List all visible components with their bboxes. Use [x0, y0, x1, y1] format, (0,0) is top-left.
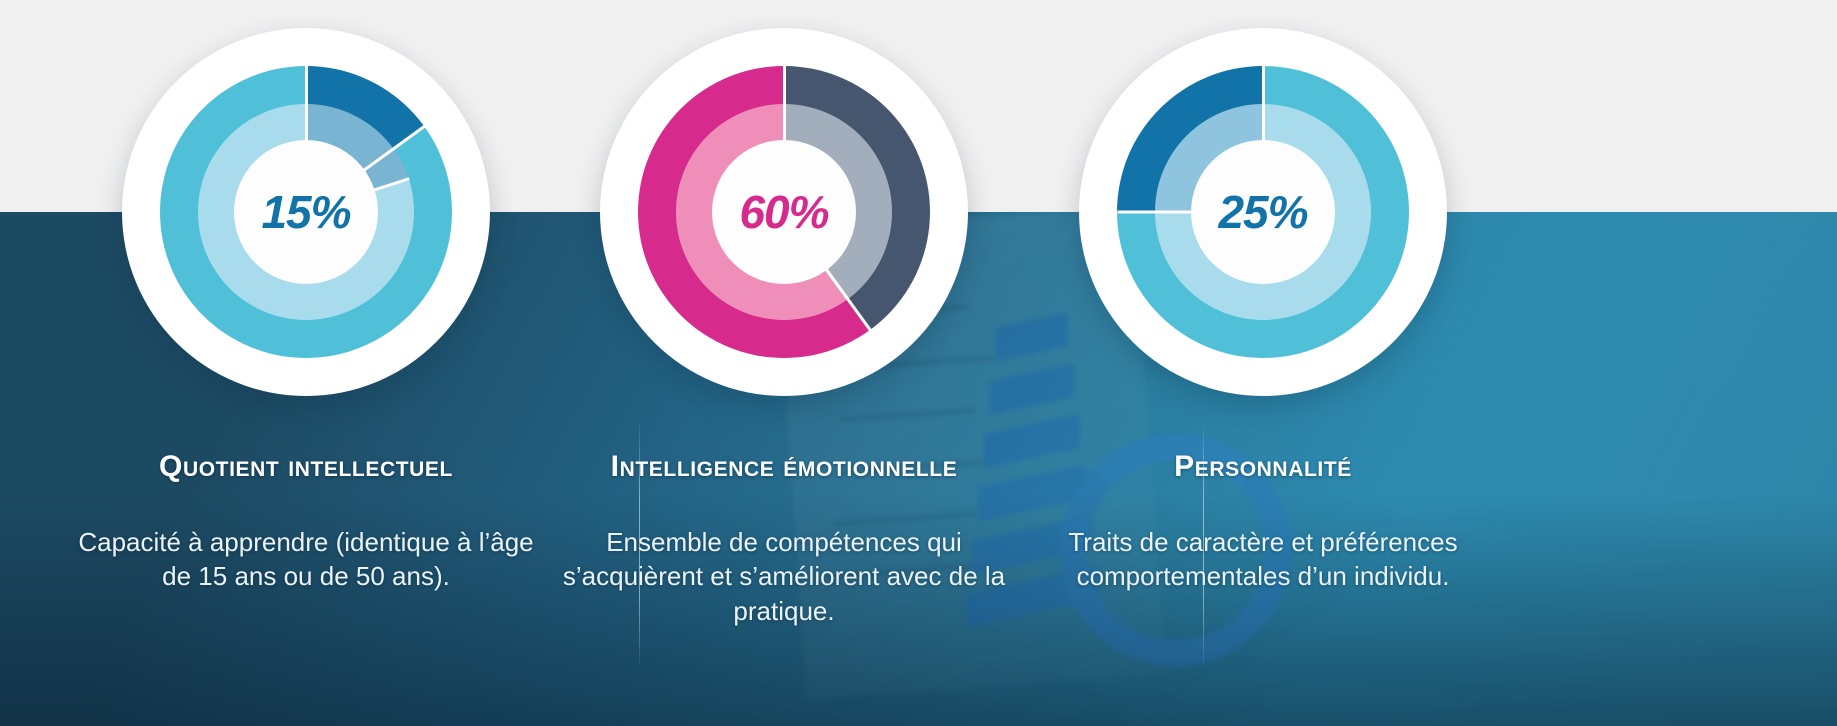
column-quotient-intellectuel: 15% Quotient intellectuel Capacité à app…	[26, 0, 586, 726]
column-description-3: Traits de caractère et préférences compo…	[1025, 525, 1501, 594]
donut-percent-label-1: 15%	[261, 189, 350, 235]
donut-wrap-3: 25%	[1079, 28, 1447, 396]
column-description-1: Capacité à apprendre (identique à l’âge …	[68, 525, 544, 594]
donut-center-2: 60%	[712, 140, 856, 284]
column-divider-1	[639, 425, 640, 665]
column-title-1: Quotient intellectuel	[26, 450, 586, 484]
donut-center-3: 25%	[1191, 140, 1335, 284]
donut-wrap-1: 15%	[122, 28, 490, 396]
donut-center-1: 15%	[234, 140, 378, 284]
donut-percent-label-3: 25%	[1218, 189, 1307, 235]
column-title-3: Personnalité	[983, 450, 1543, 484]
donut-tick-2d	[783, 104, 786, 144]
column-personnalite: 25% Personnalité Traits de caractère et …	[983, 0, 1543, 726]
donut-chart-personnalite: 25%	[1079, 28, 1447, 396]
column-divider-2	[1203, 425, 1204, 665]
columns-container: 15% Quotient intellectuel Capacité à app…	[0, 0, 1837, 726]
donut-percent-label-2: 60%	[739, 189, 828, 235]
column-description-2: Ensemble de compétences qui s’acquièrent…	[546, 525, 1022, 628]
donut-tick-3d	[1156, 211, 1196, 214]
infographic-stage: — — — — — 15% Quotient intellectuel Ca	[0, 0, 1837, 726]
donut-chart-intelligence-emotionnelle: 60%	[600, 28, 968, 396]
donut-wrap-2: 60%	[600, 28, 968, 396]
column-intelligence-emotionnelle: 60% Intelligence émotionnelle Ensemble d…	[504, 0, 1064, 726]
column-title-2: Intelligence émotionnelle	[504, 450, 1064, 484]
donut-tick-3c	[1262, 104, 1265, 144]
donut-chart-quotient-intellectuel: 15%	[122, 28, 490, 396]
donut-tick-1c	[305, 104, 308, 144]
